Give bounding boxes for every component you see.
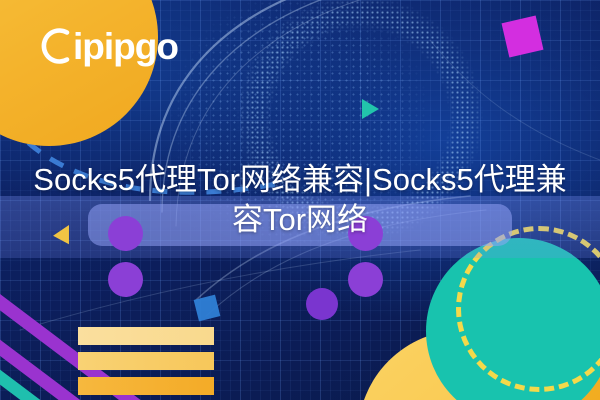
brand-logo: ipipgo: [34, 24, 178, 68]
triangle-teal-icon: [362, 99, 379, 119]
brand-name: ipipgo: [73, 28, 178, 65]
bar-3: [78, 377, 214, 395]
bar-2: [78, 352, 214, 370]
dot-purple-4: [348, 262, 383, 297]
promo-banner: ipipgo Socks5代理Tor网络兼容|Socks5代理兼容Tor网络: [0, 0, 600, 400]
bar-1: [78, 327, 214, 345]
dot-purple-2: [108, 262, 143, 297]
page-title: Socks5代理Tor网络兼容|Socks5代理兼容Tor网络: [30, 160, 570, 241]
dot-purple-top: [306, 288, 338, 320]
c-ring-icon: [34, 24, 78, 68]
